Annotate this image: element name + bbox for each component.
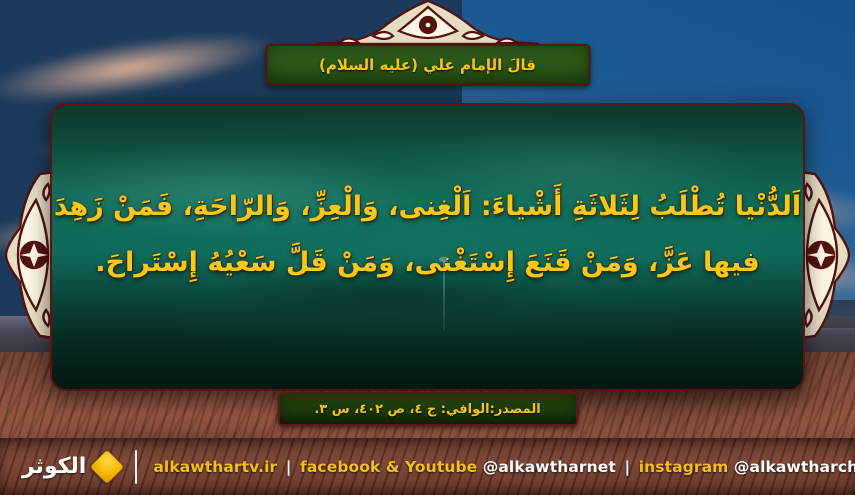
- brand-logo[interactable]: الكوثر: [22, 455, 119, 479]
- social-handle[interactable]: @alkawtharnet: [483, 458, 616, 476]
- instagram-label: instagram: [639, 458, 729, 476]
- link-separator-1: |: [283, 458, 295, 476]
- quote-line-1: اَلدُّنْيا تُطْلَبُ لِثَلاثَةِ أَشْياءَ:…: [54, 186, 801, 228]
- instagram-handle[interactable]: @alkawtharchannel: [734, 458, 855, 476]
- source-plaque: المصدر:الوافي: ج ٤، ص ٤٠٢، س ٣.: [278, 392, 578, 426]
- quote-panel: اَلدُّنْيا تُطْلَبُ لِثَلاثَةِ أَشْياءَ:…: [50, 103, 805, 391]
- footer-links: alkawthartv.ir | facebook & Youtube @alk…: [153, 458, 855, 476]
- link-separator-2: |: [621, 458, 633, 476]
- footer-divider: [135, 450, 137, 484]
- quote-text-block: اَلدُّنْيا تُطْلَبُ لِثَلاثَةِ أَشْياءَ:…: [52, 105, 803, 389]
- title-banner: قالَ الإمام علي (عليه السلام): [265, 44, 590, 86]
- alkawthar-wordmark: الكوثر: [22, 456, 86, 478]
- website-link[interactable]: alkawthartv.ir: [153, 458, 277, 476]
- social-label: facebook & Youtube: [300, 458, 477, 476]
- diamond-icon: [90, 450, 124, 484]
- footer-bar: الكوثر alkawthartv.ir | facebook & Youtu…: [0, 438, 855, 495]
- quote-line-2: فيها عَزَّ، وَمَنْ قَنَعَ إِسْتَغْنى، وَ…: [95, 242, 759, 284]
- hadith-card: قالَ الإمام علي (عليه السلام) اَلدُّنْيا…: [0, 0, 855, 495]
- source-citation: المصدر:الوافي: ج ٤، ص ٤٠٢، س ٣.: [314, 402, 540, 417]
- page-title: قالَ الإمام علي (عليه السلام): [319, 56, 536, 74]
